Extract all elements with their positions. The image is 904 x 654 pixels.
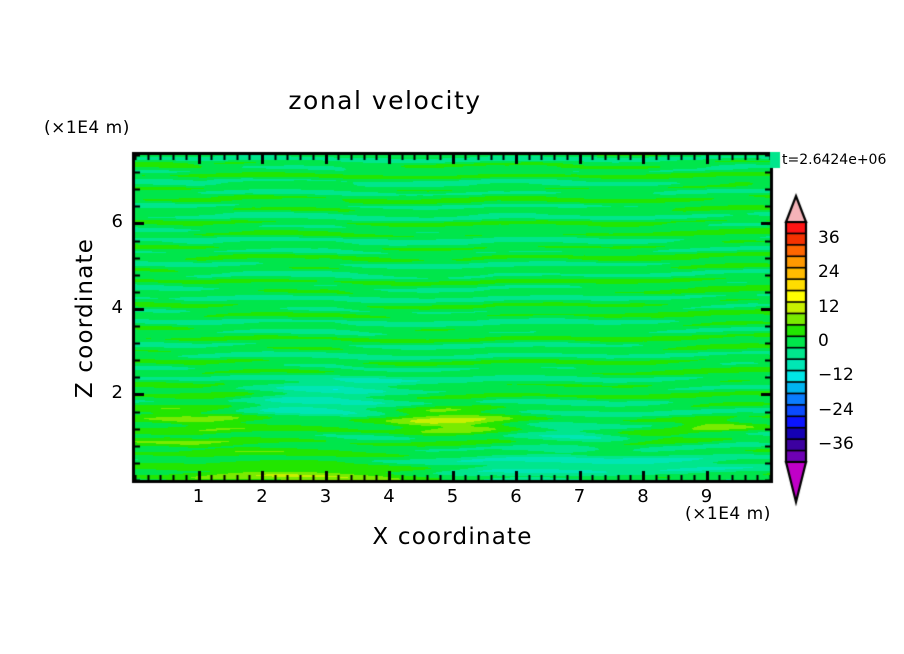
x-tick-label: 5 [433,486,473,507]
colorbar-tick-label: 0 [818,331,829,351]
x-tick-label: 4 [369,486,409,507]
colorbar-tick-label: −12 [818,365,854,385]
x-axis-unit-label: (×1E4 m) [685,504,771,524]
x-tick-label: 3 [306,486,346,507]
time-annotation: t=2.6424e+06 [782,152,886,168]
y-axis-unit-label: (×1E4 m) [44,118,130,138]
y-tick-label: 6 [91,211,123,232]
y-tick-label: 4 [91,297,123,318]
x-tick-label: 2 [242,486,282,507]
colorbar-tick-label: −36 [818,434,854,454]
x-tick-label: 8 [623,486,663,507]
x-tick-label: 7 [560,486,600,507]
colorbar-tick-label: −24 [818,400,854,420]
x-tick-label: 6 [496,486,536,507]
x-axis-title: X coordinate [135,524,770,550]
y-tick-label: 2 [91,382,123,403]
x-tick-label: 9 [687,486,727,507]
x-tick-label: 1 [179,486,219,507]
colorbar-tick-label: 12 [818,297,840,317]
colorbar-tick-label: 36 [818,228,840,248]
colorbar-tick-label: 24 [818,262,840,282]
chart-title: zonal velocity [0,86,770,115]
